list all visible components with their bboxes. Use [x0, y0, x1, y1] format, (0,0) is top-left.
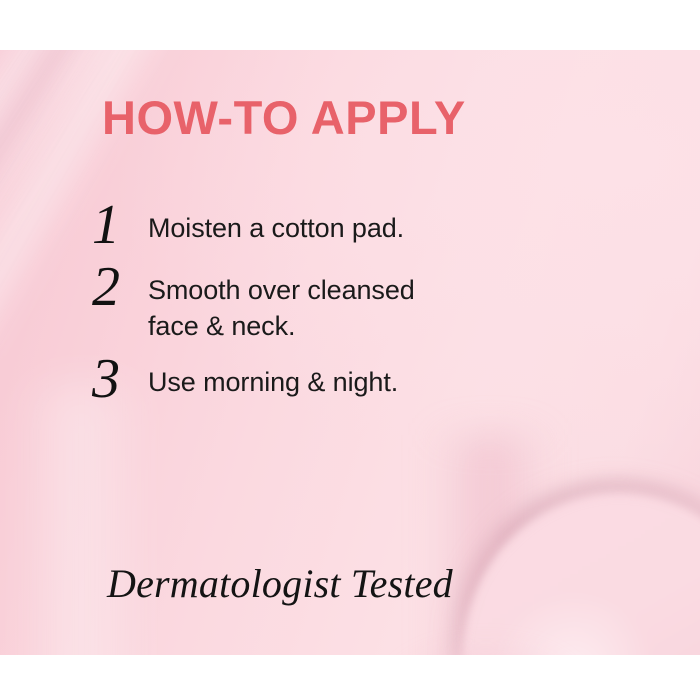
list-item: 3 Use morning & night. — [92, 360, 542, 406]
product-howto-card: HOW-TO APPLY 1 Moisten a cotton pad. 2 S… — [0, 0, 700, 700]
steps-list: 1 Moisten a cotton pad. 2 Smooth over cl… — [92, 206, 542, 405]
dermatologist-tested-claim: Dermatologist Tested — [107, 562, 453, 606]
step-number: 3 — [92, 354, 148, 406]
list-item: 2 Smooth over cleansed face & neck. — [92, 268, 542, 344]
page-title: HOW-TO APPLY — [102, 94, 466, 141]
step-text: Smooth over cleansed face & neck. — [148, 268, 542, 344]
step-number: 1 — [92, 200, 148, 252]
card-content: HOW-TO APPLY 1 Moisten a cotton pad. 2 S… — [0, 0, 700, 700]
step-text: Use morning & night. — [148, 360, 542, 400]
step-number: 2 — [92, 262, 148, 314]
list-item: 1 Moisten a cotton pad. — [92, 206, 542, 252]
step-text: Moisten a cotton pad. — [148, 206, 542, 246]
